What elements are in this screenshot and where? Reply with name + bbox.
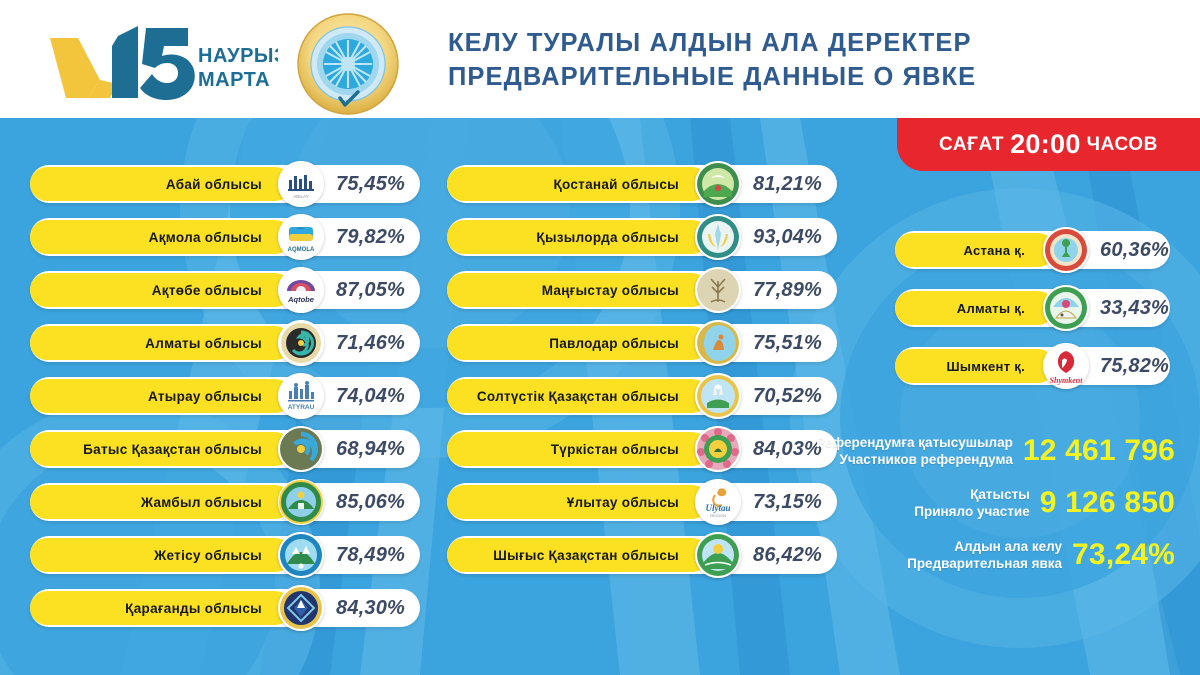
region-name: Батыс Қазақстан облысы	[83, 442, 262, 457]
summary-row-participated: Қатысты Приняло участие 9 126 850	[820, 486, 1175, 520]
row-label-pill: Атырау облысы	[30, 379, 292, 413]
table-row[interactable]: Қызылорда облысы 93,04%	[447, 218, 837, 256]
region-name: Ақтөбе облысы	[152, 283, 262, 298]
row-label-pill: Жетісу облысы	[30, 538, 292, 572]
row-label-pill: Алматы қ.	[895, 291, 1055, 325]
turnout-percent: 84,03%	[753, 430, 822, 468]
row-label-pill: Жамбыл облысы	[30, 485, 292, 519]
summary-label-group: Қатысты Приняло участие	[914, 486, 1029, 520]
atyrau-region-logo-icon: ATYRAU	[278, 373, 324, 419]
row-label-pill: Ұлытау облысы	[447, 485, 709, 519]
turnout-percent: 71,46%	[336, 324, 405, 362]
row-label-pill: Батыс Қазақстан облысы	[30, 432, 292, 466]
west-kazakhstan-region-logo-icon	[278, 426, 324, 472]
svg-text:Aqtobe: Aqtobe	[287, 295, 314, 304]
turnout-percent: 84,30%	[336, 589, 405, 627]
row-label-pill: Астана қ.	[895, 233, 1055, 267]
table-row[interactable]: Ақтөбе облысы Aqtobe 87,05%	[30, 271, 420, 309]
region-name: Алматы қ.	[957, 301, 1025, 316]
region-name: Солтүстік Қазақстан облысы	[477, 389, 679, 404]
header: НАУРЫЗ МАРТА	[0, 0, 1200, 118]
table-row[interactable]: Атырау облысы ATYRAU 74,04%	[30, 377, 420, 415]
zhetysu-region-logo-icon	[278, 532, 324, 578]
region-name: Ақмола облысы	[149, 230, 262, 245]
summary-statistics: Референдумға қатысушылар Участников рефе…	[820, 434, 1175, 590]
summary-label-group: Алдын ала келу Предварительная явка	[907, 538, 1062, 572]
table-row[interactable]: Ақмола облысы AQMOLA 79,82%	[30, 218, 420, 256]
region-name: Павлодар облысы	[549, 336, 679, 351]
summary-value-turnout: 73,24%	[1072, 538, 1175, 572]
summary-value-participated: 9 126 850	[1040, 486, 1175, 520]
table-row[interactable]: Батыс Қазақстан облысы 68,94%	[30, 430, 420, 468]
turnout-percent: 85,06%	[336, 483, 405, 521]
table-row[interactable]: Жетісу облысы 78,49%	[30, 536, 420, 574]
table-row[interactable]: Қостанай облысы 81,21%	[447, 165, 837, 203]
abai-region-logo-icon: ABILAY	[278, 161, 324, 207]
aqtobe-region-logo-icon: Aqtobe	[278, 267, 324, 313]
region-name: Жамбыл облысы	[141, 495, 262, 510]
zhambyl-region-logo-icon	[278, 479, 324, 525]
region-name: Қарағанды облысы	[125, 601, 262, 616]
turnout-percent: 81,21%	[753, 165, 822, 203]
summary-label-russian: Приняло участие	[914, 503, 1029, 520]
page-title: КЕЛУ ТУРАЛЫ АЛДЫН АЛА ДЕРЕКТЕР ПРЕДВАРИТ…	[448, 26, 1068, 94]
turnout-percent: 86,42%	[753, 536, 822, 574]
svg-text:Shymkent: Shymkent	[1050, 376, 1084, 385]
summary-label-kazakh: Қатысты	[914, 486, 1029, 503]
almaty-city-logo-icon	[1043, 285, 1089, 331]
row-label-pill: Ақмола облысы	[30, 220, 292, 254]
turnout-percent: 73,15%	[753, 483, 822, 521]
region-name: Жетісу облысы	[154, 548, 262, 563]
aqmola-region-logo-icon: AQMOLA	[278, 214, 324, 260]
region-name: Шымкент қ.	[947, 359, 1025, 374]
turnout-percent: 75,51%	[753, 324, 822, 362]
table-row[interactable]: Маңғыстау облысы 77,89%	[447, 271, 837, 309]
turnout-percent: 93,04%	[753, 218, 822, 256]
turnout-percent: 78,49%	[336, 536, 405, 574]
region-name: Астана қ.	[963, 243, 1025, 258]
turnout-percent: 75,45%	[336, 165, 405, 203]
region-name: Түркістан облысы	[551, 442, 679, 457]
shymkent-city-logo-icon: Shymkent	[1043, 343, 1089, 389]
mangystau-region-logo-icon	[695, 267, 741, 313]
turnout-percent: 79,82%	[336, 218, 405, 256]
svg-text:ATYRAU: ATYRAU	[288, 404, 315, 411]
summary-label-group: Референдумға қатысушылар Участников рефе…	[816, 434, 1013, 468]
turnout-percent: 75,82%	[1100, 347, 1169, 385]
region-name: Абай облысы	[166, 177, 262, 192]
table-row[interactable]: Қарағанды облысы 84,30%	[30, 589, 420, 627]
table-row[interactable]: Шымкент қ. Shymkent 75,82%	[895, 347, 1170, 385]
astana-city-logo-icon	[1043, 227, 1089, 273]
table-row[interactable]: Астана қ. 60,36%	[895, 231, 1170, 269]
time-label-kazakh: САҒАТ	[939, 134, 1004, 156]
summary-label-kazakh: Алдын ала келу	[907, 538, 1062, 555]
turnout-percent: 87,05%	[336, 271, 405, 309]
ulytau-region-logo-icon: UlytauREGION	[695, 479, 741, 525]
almaty-region-logo-icon	[278, 320, 324, 366]
summary-label-russian: Участников референдума	[816, 451, 1013, 468]
results-panel: САҒАТ 20:00 ЧАСОВ Абай облысы ABILAY 75,…	[0, 118, 1200, 675]
turnout-percent: 74,04%	[336, 377, 405, 415]
kostanay-region-logo-icon	[695, 161, 741, 207]
row-label-pill: Шығыс Қазақстан облысы	[447, 538, 709, 572]
pavlodar-region-logo-icon	[695, 320, 741, 366]
table-row[interactable]: Абай облысы ABILAY 75,45%	[30, 165, 420, 203]
march-15-logo: НАУРЫЗ МАРТА	[48, 24, 278, 100]
time-banner: САҒАТ 20:00 ЧАСОВ	[897, 118, 1200, 171]
summary-row-registered: Референдумға қатысушылар Участников рефе…	[820, 434, 1175, 468]
row-label-pill: Шымкент қ.	[895, 349, 1055, 383]
region-name: Алматы облысы	[145, 336, 262, 351]
summary-row-turnout: Алдын ала келу Предварительная явка 73,2…	[820, 538, 1175, 572]
karagandy-region-logo-icon	[278, 585, 324, 631]
table-row[interactable]: Солтүстік Қазақстан облысы 70,52%	[447, 377, 837, 415]
table-row[interactable]: Павлодар облысы 75,51%	[447, 324, 837, 362]
time-value: 20:00	[1010, 129, 1081, 160]
turkistan-region-logo-icon	[695, 426, 741, 472]
time-label-russian: ЧАСОВ	[1087, 134, 1158, 156]
region-name: Шығыс Қазақстан облысы	[493, 548, 679, 563]
kyzylorda-region-logo-icon	[695, 214, 741, 260]
infographic-page: НАУРЫЗ МАРТА	[0, 0, 1200, 675]
row-label-pill: Алматы облысы	[30, 326, 292, 360]
row-label-pill: Павлодар облысы	[447, 326, 709, 360]
table-row[interactable]: Алматы облысы 71,46%	[30, 324, 420, 362]
turnout-percent: 77,89%	[753, 271, 822, 309]
row-label-pill: Қызылорда облысы	[447, 220, 709, 254]
row-label-pill: Қарағанды облысы	[30, 591, 292, 625]
region-name: Маңғыстау облысы	[542, 283, 679, 298]
title-russian: ПРЕДВАРИТЕЛЬНЫЕ ДАННЫЕ О ЯВКЕ	[448, 60, 1068, 94]
svg-text:МАРТА: МАРТА	[198, 69, 270, 91]
table-row[interactable]: Шығыс Қазақстан облысы 86,42%	[447, 536, 837, 574]
table-row[interactable]: Ұлытау облысы UlytauREGION 73,15%	[447, 483, 837, 521]
table-row[interactable]: Түркістан облысы 84,03%	[447, 430, 837, 468]
summary-label-russian: Предварительная явка	[907, 555, 1062, 572]
svg-text:ABILAY: ABILAY	[293, 194, 308, 199]
region-name: Қызылорда облысы	[536, 230, 679, 245]
svg-text:AQMOLA: AQMOLA	[288, 247, 315, 253]
row-label-pill: Маңғыстау облысы	[447, 273, 709, 307]
row-label-pill: Ақтөбе облысы	[30, 273, 292, 307]
row-label-pill: Қостанай облысы	[447, 167, 709, 201]
region-name: Атырау облысы	[148, 389, 262, 404]
cec-emblem-icon	[296, 12, 400, 116]
east-kazakhstan-region-logo-icon	[695, 532, 741, 578]
summary-label-kazakh: Референдумға қатысушылар	[816, 434, 1013, 451]
table-row[interactable]: Жамбыл облысы 85,06%	[30, 483, 420, 521]
region-name: Ұлытау облысы	[567, 495, 679, 510]
table-row[interactable]: Алматы қ. 33,43%	[895, 289, 1170, 327]
summary-value-registered: 12 461 796	[1023, 434, 1175, 468]
row-label-pill: Абай облысы	[30, 167, 292, 201]
svg-text:REGION: REGION	[710, 513, 726, 518]
svg-text:Ulytau: Ulytau	[705, 503, 730, 513]
row-label-pill: Түркістан облысы	[447, 432, 709, 466]
region-name: Қостанай облысы	[553, 177, 679, 192]
row-label-pill: Солтүстік Қазақстан облысы	[447, 379, 709, 413]
turnout-percent: 68,94%	[336, 430, 405, 468]
title-kazakh: КЕЛУ ТУРАЛЫ АЛДЫН АЛА ДЕРЕКТЕР	[448, 26, 1068, 60]
turnout-percent: 33,43%	[1100, 289, 1169, 327]
turnout-percent: 70,52%	[753, 377, 822, 415]
svg-text:НАУРЫЗ: НАУРЫЗ	[198, 45, 278, 67]
turnout-percent: 60,36%	[1100, 231, 1169, 269]
north-kazakhstan-region-logo-icon	[695, 373, 741, 419]
